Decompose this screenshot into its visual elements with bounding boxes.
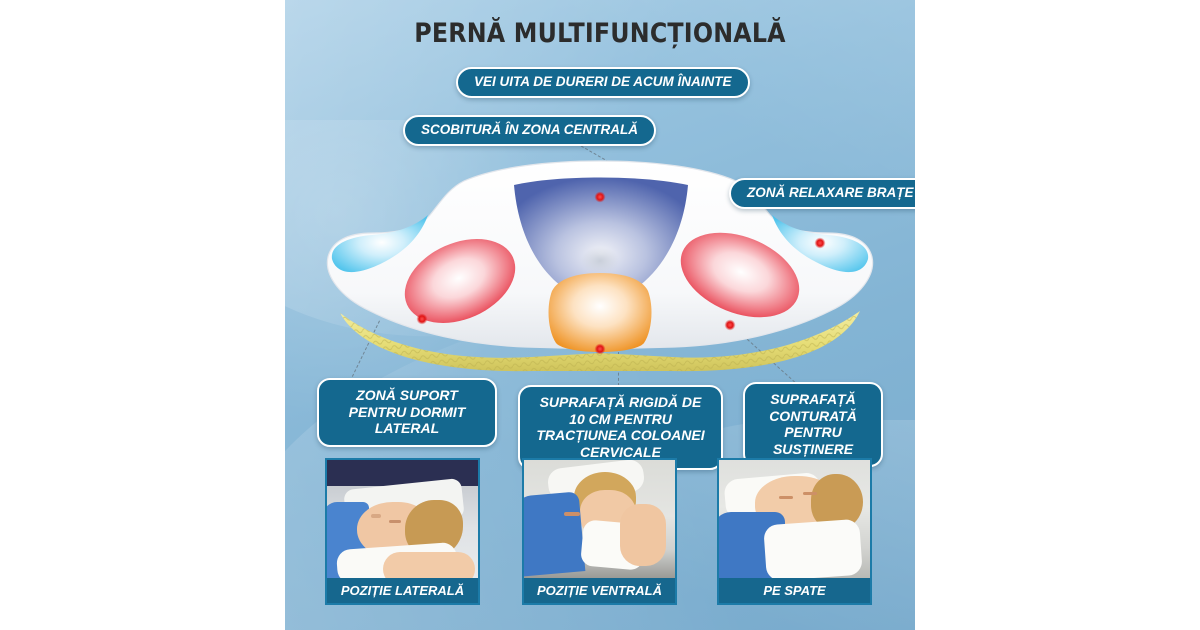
badge-scobitura[interactable]: SCOBITURĂ ÎN ZONA CENTRALĂ: [403, 115, 656, 146]
badge-subtitle[interactable]: VEI UITA DE DURERI DE ACUM ÎNAINTE: [456, 67, 750, 98]
position-card-ventral[interactable]: POZIȚIE VENTRALĂ: [522, 458, 677, 605]
marker-dot-lateral: [417, 314, 428, 325]
caption-spate: PE SPATE: [717, 578, 872, 605]
photo-prone-sleeping: [522, 458, 677, 578]
photo-back-sleeping: [717, 458, 872, 578]
content-panel: PERNĂ MULTIFUNCȚIONALĂ: [285, 0, 915, 630]
marker-dot-arm: [815, 238, 826, 249]
position-card-lateral[interactable]: POZIȚIE LATERALĂ: [325, 458, 480, 605]
caption-ventral: POZIȚIE VENTRALĂ: [522, 578, 677, 605]
page-title: PERNĂ MULTIFUNCȚIONALĂ: [323, 18, 877, 49]
photo-side-sleeping: [325, 458, 480, 578]
badge-conturata[interactable]: SUPRAFAȚĂ CONTURATĂ PENTRU SUSȚINERE: [743, 382, 883, 467]
marker-dot-central: [595, 192, 606, 203]
infographic-canvas: PERNĂ MULTIFUNCȚIONALĂ: [0, 0, 1200, 630]
badge-brate[interactable]: ZONĂ RELAXARE BRAȚE: [729, 178, 915, 209]
marker-dot-base: [725, 320, 736, 331]
chin-contour-zone: [549, 273, 652, 352]
caption-lateral: POZIȚIE LATERALĂ: [325, 578, 480, 605]
position-card-spate[interactable]: PE SPATE: [717, 458, 872, 605]
badge-lateral[interactable]: ZONĂ SUPORT PENTRU DORMIT LATERAL: [317, 378, 497, 447]
marker-dot-chin: [595, 344, 606, 355]
position-cards: POZIȚIE LATERALĂ POZIȚIE VENTRALĂ: [285, 458, 915, 618]
